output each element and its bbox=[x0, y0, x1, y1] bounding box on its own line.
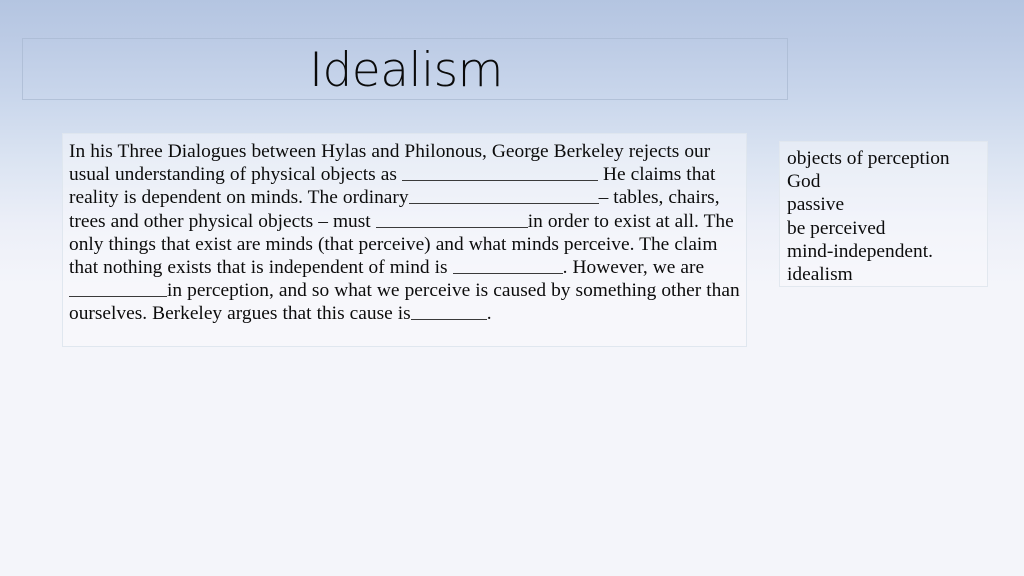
paragraph-text-run: . bbox=[487, 303, 492, 324]
answer-bank-item: God bbox=[787, 170, 983, 193]
answer-bank-list: objects of perceptionGodpassivebe percei… bbox=[787, 147, 983, 286]
body-text-placeholder[interactable]: In his Three Dialogues between Hylas and… bbox=[62, 133, 747, 347]
answer-bank-item: be perceived bbox=[787, 217, 983, 240]
answer-bank-item: passive bbox=[787, 193, 983, 216]
blank-field-12[interactable] bbox=[411, 304, 487, 320]
answer-bank-placeholder[interactable]: objects of perceptionGodpassivebe percei… bbox=[779, 141, 988, 287]
slide-canvas: Idealism In his Three Dialogues between … bbox=[0, 0, 1024, 576]
fill-in-the-blank-paragraph: In his Three Dialogues between Hylas and… bbox=[69, 140, 745, 326]
blank-field-10[interactable] bbox=[69, 281, 167, 297]
blank-field-4[interactable] bbox=[409, 188, 599, 204]
blank-field-6[interactable] bbox=[376, 212, 528, 228]
answer-bank-item: objects of perception bbox=[787, 147, 983, 170]
answer-bank-item: idealism bbox=[787, 263, 983, 286]
blank-field-2[interactable] bbox=[402, 165, 598, 181]
page-title: Idealism bbox=[23, 39, 789, 101]
paragraph-text-run: in perception, and so what we perceive i… bbox=[69, 280, 740, 324]
paragraph-text-run: . However, we are bbox=[563, 257, 704, 278]
title-placeholder[interactable]: Idealism bbox=[22, 38, 788, 100]
answer-bank-item: mind-independent. bbox=[787, 240, 983, 263]
blank-field-8[interactable] bbox=[453, 258, 563, 274]
